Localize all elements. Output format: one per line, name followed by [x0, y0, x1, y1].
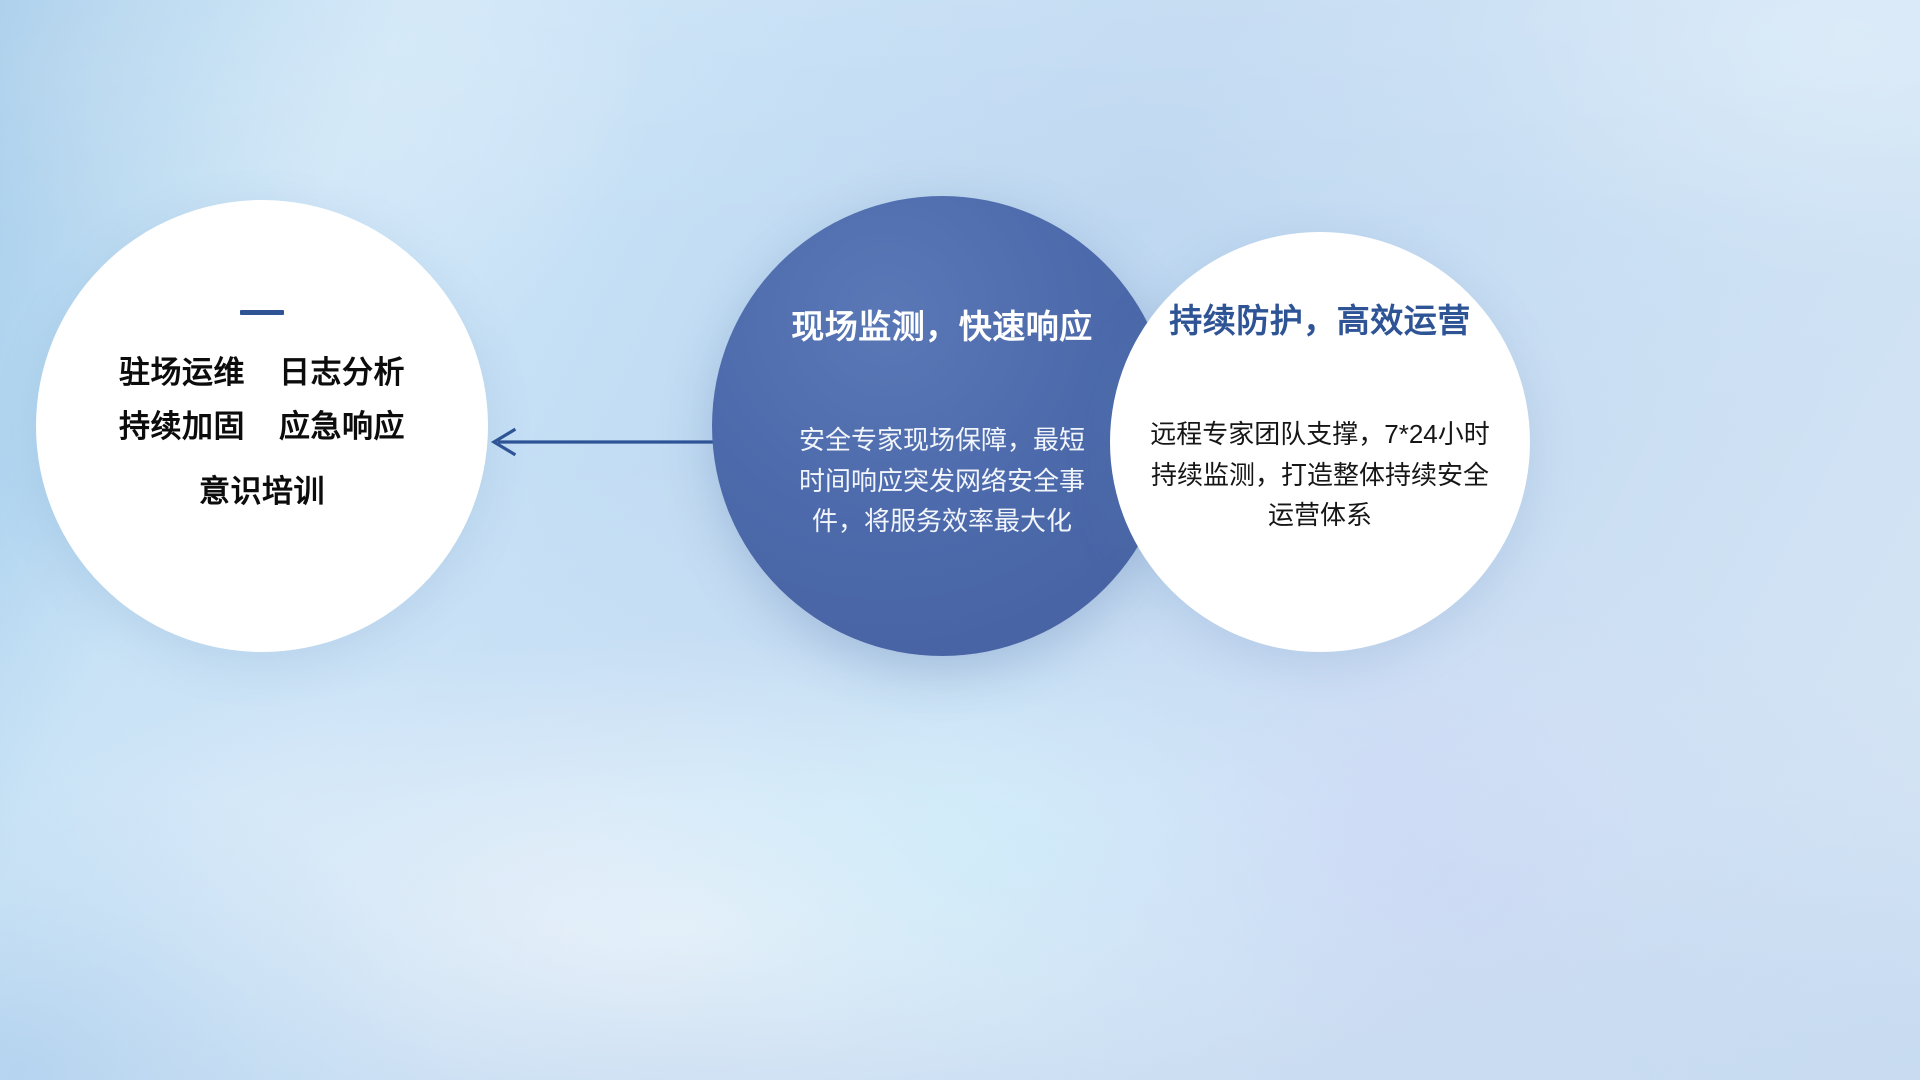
keyword-item[interactable]: 日志分析 [279, 353, 405, 393]
keyword-row: 持续加固 应急响应 [119, 407, 405, 447]
arrow-left-icon [480, 412, 720, 472]
onsite-monitoring-body: 安全专家现场保障，最短时间响应突发网络安全事件，将服务效率最大化 [792, 420, 1092, 542]
continuous-protection-title: 持续防护，高效运营 [1169, 294, 1471, 342]
capabilities-circle-content: 驻场运维 日志分析 持续加固 应急响应 意识培训 [36, 200, 488, 652]
keyword-item[interactable]: 驻场运维 [119, 353, 245, 393]
onsite-monitoring-circle-content: 现场监测，快速响应 安全专家现场保障，最短时间响应突发网络安全事件，将服务效率最… [712, 196, 1172, 656]
diagram-canvas: 驻场运维 日志分析 持续加固 应急响应 意识培训 现场监测，快速响应 安全专家现… [0, 0, 1920, 1080]
keyword-row: 驻场运维 日志分析 [119, 353, 405, 393]
continuous-protection-circle-content: 持续防护，高效运营 远程专家团队支撑，7*24小时持续监测，打造整体持续安全运营… [1110, 232, 1530, 652]
keyword-item[interactable]: 意识培训 [199, 472, 325, 512]
keyword-item[interactable]: 持续加固 [119, 407, 245, 447]
divider-rule [240, 310, 284, 315]
continuous-protection-body: 远程专家团队支撑，7*24小时持续监测，打造整体持续安全运营体系 [1144, 414, 1496, 536]
keyword-row: 意识培训 [199, 472, 325, 512]
onsite-monitoring-title: 现场监测，快速响应 [791, 300, 1093, 348]
keyword-item[interactable]: 应急响应 [279, 407, 405, 447]
